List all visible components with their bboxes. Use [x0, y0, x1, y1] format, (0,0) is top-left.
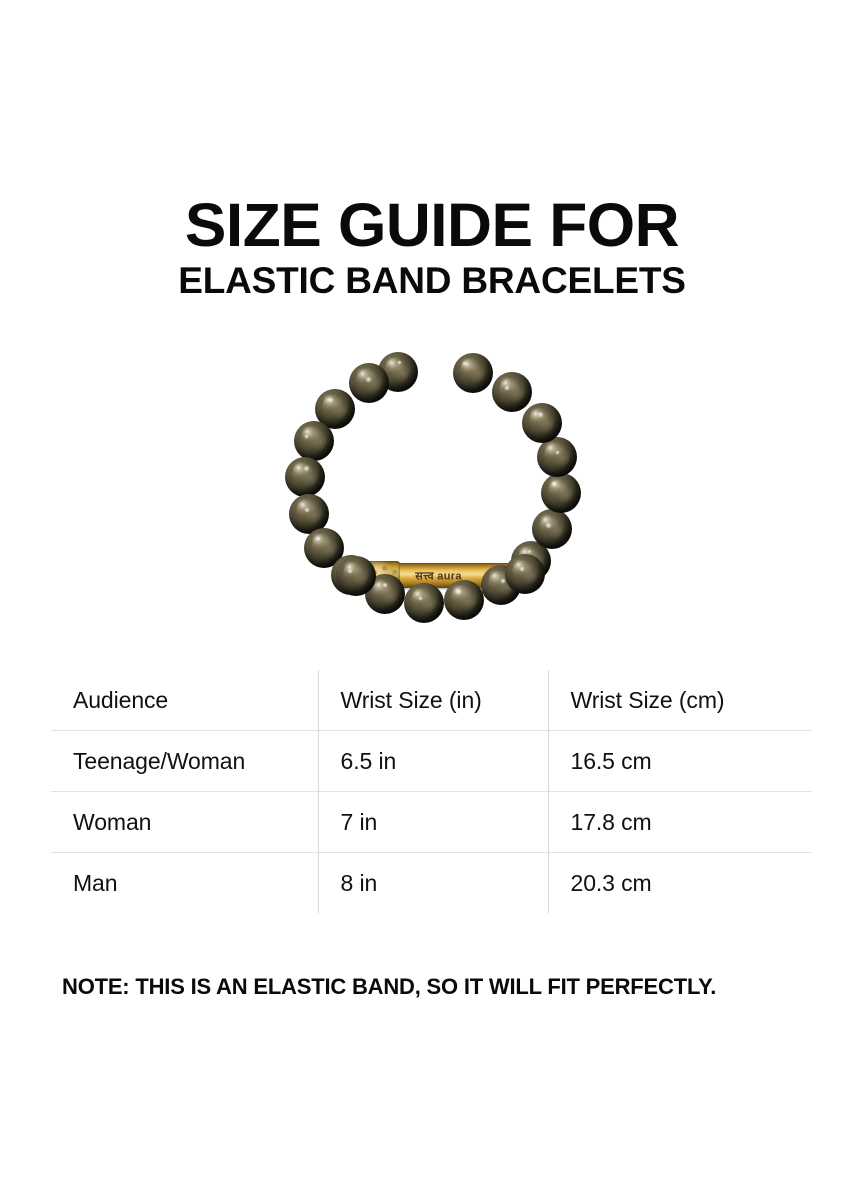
- cell-wrist-size-cm: 17.8 cm: [548, 792, 812, 853]
- column-header-audience: Audience: [51, 670, 318, 731]
- bracelet-bead: [285, 457, 325, 497]
- bracelet-bead: [404, 583, 444, 623]
- table-row: Woman 7 in 17.8 cm: [51, 792, 812, 853]
- table-row: Teenage/Woman 6.5 in 16.5 cm: [51, 731, 812, 792]
- bracelet-bead: [537, 437, 577, 477]
- cell-wrist-size-in: 7 in: [318, 792, 548, 853]
- bead-highlight: [504, 385, 510, 391]
- bracelet-bead: [294, 421, 334, 461]
- cell-audience: Teenage/Woman: [51, 731, 318, 792]
- cell-wrist-size-in: 8 in: [318, 853, 548, 914]
- product-image: सत्त्व aura: [258, 348, 608, 643]
- bead-highlight: [545, 522, 552, 529]
- cell-wrist-size-cm: 16.5 cm: [548, 731, 812, 792]
- page-subtitle: ELASTIC BAND BRACELETS: [0, 262, 864, 299]
- note-text: NOTE: THIS IS AN ELASTIC BAND, SO IT WIL…: [62, 974, 716, 1000]
- bead-highlight: [304, 434, 309, 439]
- bead-highlight: [365, 376, 372, 383]
- bead-highlight: [462, 361, 467, 366]
- bead-highlight: [316, 536, 321, 541]
- bead-highlight: [304, 507, 310, 513]
- bead-highlight: [382, 582, 388, 588]
- bead-highlight: [303, 465, 310, 472]
- bead-highlight: [555, 450, 560, 455]
- bead-highlight: [519, 566, 525, 572]
- bracelet-bead: [492, 372, 532, 412]
- bracelet-bead: [541, 473, 581, 513]
- bracelet-bead: [532, 509, 572, 549]
- bead-highlight: [537, 411, 544, 418]
- size-guide-table: Audience Wrist Size (in) Wrist Size (cm)…: [51, 670, 812, 913]
- bracelet-bead: [349, 363, 389, 403]
- bracelet-bead: [522, 403, 562, 443]
- column-header-wrist-size-cm: Wrist Size (cm): [548, 670, 812, 731]
- cell-wrist-size-cm: 20.3 cm: [548, 853, 812, 914]
- cell-audience: Man: [51, 853, 318, 914]
- bead-highlight: [455, 588, 462, 595]
- page-heading: SIZE GUIDE FOR ELASTIC BAND BRACELETS: [0, 196, 864, 299]
- bracelet-bead: [505, 554, 545, 594]
- bead-highlight: [328, 397, 334, 403]
- bead-highlight: [527, 549, 532, 554]
- bracelet-bead: [444, 580, 484, 620]
- page-title: SIZE GUIDE FOR: [0, 196, 864, 256]
- bead-highlight: [397, 360, 402, 365]
- beaded-bracelet-graphic: सत्त्व aura: [258, 348, 608, 643]
- bead-highlight: [347, 568, 353, 574]
- bracelet-bead: [453, 353, 493, 393]
- table-header-row: Audience Wrist Size (in) Wrist Size (cm): [51, 670, 812, 731]
- bead-highlight: [551, 481, 557, 487]
- column-header-wrist-size-in: Wrist Size (in): [318, 670, 548, 731]
- table-row: Man 8 in 20.3 cm: [51, 853, 812, 914]
- cell-wrist-size-in: 6.5 in: [318, 731, 548, 792]
- bracelet-bead: [336, 556, 376, 596]
- bead-highlight: [418, 596, 423, 601]
- cell-audience: Woman: [51, 792, 318, 853]
